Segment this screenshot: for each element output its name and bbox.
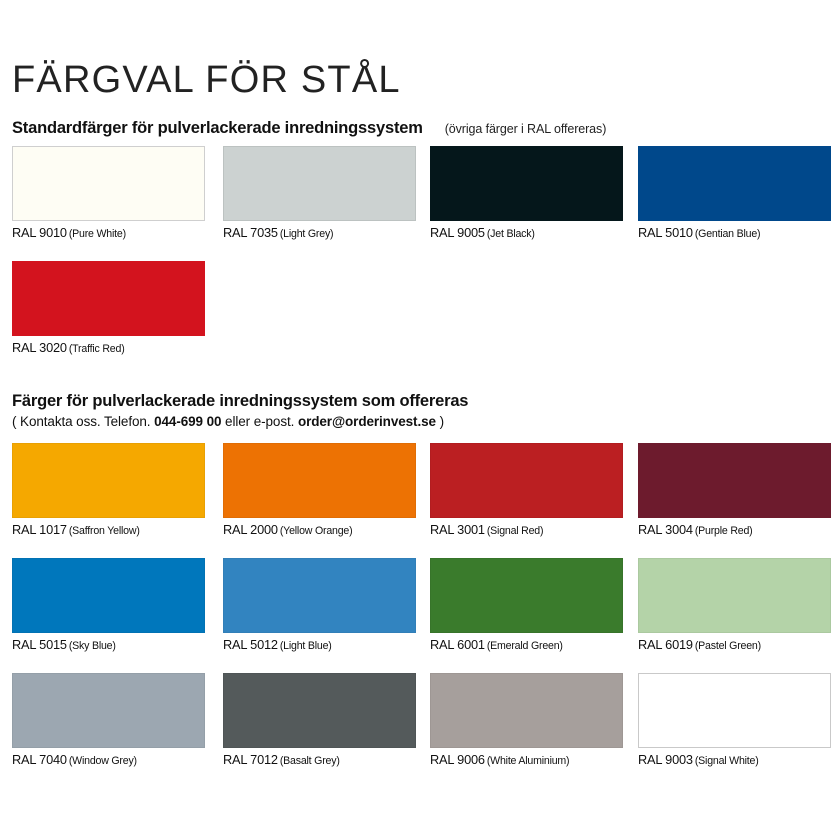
ral-code: RAL 3020 xyxy=(12,340,67,355)
swatch-label: RAL 5010(Gentian Blue) xyxy=(638,226,831,241)
swatch-cell[interactable]: RAL 6019(Pastel Green) xyxy=(638,558,831,653)
color-chip[interactable] xyxy=(223,146,416,221)
ral-name: (Jet Black) xyxy=(487,228,535,240)
color-chip[interactable] xyxy=(638,558,831,633)
ral-code: RAL 1017 xyxy=(12,522,67,537)
color-chip[interactable] xyxy=(638,146,831,221)
swatch-label: RAL 7035(Light Grey) xyxy=(223,226,416,241)
ral-name: (Signal Red) xyxy=(487,525,543,537)
color-chip[interactable] xyxy=(12,261,205,336)
swatch-cell[interactable]: RAL 9010(Pure White) xyxy=(12,146,205,241)
color-chip[interactable] xyxy=(430,673,623,748)
color-chip[interactable] xyxy=(430,146,623,221)
swatch-label: RAL 6001(Emerald Green) xyxy=(430,638,623,653)
ral-name: (Light Grey) xyxy=(280,228,334,240)
color-chip[interactable] xyxy=(12,146,205,221)
color-chip[interactable] xyxy=(12,558,205,633)
swatch-label: RAL 2000(Yellow Orange) xyxy=(223,523,416,538)
ral-name: (Pastel Green) xyxy=(695,640,761,652)
swatch-label: RAL 9010(Pure White) xyxy=(12,226,205,241)
ral-code: RAL 5015 xyxy=(12,637,67,652)
swatch-cell[interactable]: RAL 6001(Emerald Green) xyxy=(430,558,623,653)
ral-code: RAL 3001 xyxy=(430,522,485,537)
section-offered-contact-line: ( Kontakta oss. Telefon. 044-699 00 elle… xyxy=(12,414,444,429)
swatch-cell[interactable]: RAL 3001(Signal Red) xyxy=(430,443,623,538)
ral-code: RAL 9003 xyxy=(638,752,693,767)
swatch-label: RAL 5015(Sky Blue) xyxy=(12,638,205,653)
contact-separator: eller e-post. xyxy=(221,414,298,429)
ral-code: RAL 5010 xyxy=(638,225,693,240)
ral-code: RAL 5012 xyxy=(223,637,278,652)
swatch-cell[interactable]: RAL 9006(White Aluminium) xyxy=(430,673,623,768)
swatch-label: RAL 3004(Purple Red) xyxy=(638,523,831,538)
ral-code: RAL 2000 xyxy=(223,522,278,537)
ral-name: (Basalt Grey) xyxy=(280,755,340,767)
swatch-label: RAL 9006(White Aluminium) xyxy=(430,753,623,768)
swatch-row: RAL 3020(Traffic Red) xyxy=(0,261,840,361)
ral-name: (Saffron Yellow) xyxy=(69,525,140,537)
swatch-label: RAL 7040(Window Grey) xyxy=(12,753,205,768)
ral-name: (Light Blue) xyxy=(280,640,332,652)
swatch-cell[interactable]: RAL 2000(Yellow Orange) xyxy=(223,443,416,538)
ral-code: RAL 9010 xyxy=(12,225,67,240)
color-chip[interactable] xyxy=(430,558,623,633)
ral-name: (Yellow Orange) xyxy=(280,525,353,537)
ral-name: (Traffic Red) xyxy=(69,343,125,355)
swatch-label: RAL 3020(Traffic Red) xyxy=(12,341,205,356)
section-standard-heading-text: Standardfärger för pulverlackerade inred… xyxy=(12,119,423,137)
swatch-row: RAL 9010(Pure White) RAL 7035(Light Grey… xyxy=(0,146,840,246)
swatch-cell[interactable]: RAL 9005(Jet Black) xyxy=(430,146,623,241)
color-chip[interactable] xyxy=(223,558,416,633)
ral-name: (Pure White) xyxy=(69,228,126,240)
ral-code: RAL 6019 xyxy=(638,637,693,652)
swatch-label: RAL 6019(Pastel Green) xyxy=(638,638,831,653)
contact-email[interactable]: order@orderinvest.se xyxy=(298,414,436,429)
ral-code: RAL 9006 xyxy=(430,752,485,767)
swatch-cell[interactable]: RAL 3020(Traffic Red) xyxy=(12,261,205,356)
color-chip[interactable] xyxy=(223,673,416,748)
swatch-cell[interactable]: RAL 5012(Light Blue) xyxy=(223,558,416,653)
ral-name: (Window Grey) xyxy=(69,755,137,767)
swatch-cell[interactable]: RAL 7035(Light Grey) xyxy=(223,146,416,241)
swatch-label: RAL 1017(Saffron Yellow) xyxy=(12,523,205,538)
section-offered-heading: Färger för pulverlackerade inredningssys… xyxy=(12,392,468,411)
swatch-cell[interactable]: RAL 7040(Window Grey) xyxy=(12,673,205,768)
color-chip[interactable] xyxy=(638,673,831,748)
color-chip[interactable] xyxy=(223,443,416,518)
ral-name: (Signal White) xyxy=(695,755,759,767)
ral-code: RAL 9005 xyxy=(430,225,485,240)
swatch-row: RAL 5015(Sky Blue) RAL 5012(Light Blue) … xyxy=(0,558,840,658)
ral-name: (Emerald Green) xyxy=(487,640,563,652)
swatch-label: RAL 7012(Basalt Grey) xyxy=(223,753,416,768)
ral-code: RAL 6001 xyxy=(430,637,485,652)
ral-name: (Sky Blue) xyxy=(69,640,116,652)
color-chip[interactable] xyxy=(638,443,831,518)
ral-code: RAL 7035 xyxy=(223,225,278,240)
color-chip[interactable] xyxy=(430,443,623,518)
section-standard-heading-note: (övriga färger i RAL offereras) xyxy=(445,122,607,136)
swatch-cell[interactable]: RAL 5015(Sky Blue) xyxy=(12,558,205,653)
ral-code: RAL 7012 xyxy=(223,752,278,767)
ral-code: RAL 3004 xyxy=(638,522,693,537)
swatch-cell[interactable]: RAL 5010(Gentian Blue) xyxy=(638,146,831,241)
color-chart-page: FÄRGVAL FÖR STÅL Standardfärger för pulv… xyxy=(0,0,840,840)
contact-phone: 044-699 00 xyxy=(154,414,221,429)
color-chip[interactable] xyxy=(12,673,205,748)
swatch-label: RAL 9005(Jet Black) xyxy=(430,226,623,241)
swatch-row: RAL 7040(Window Grey) RAL 7012(Basalt Gr… xyxy=(0,673,840,773)
swatch-label: RAL 3001(Signal Red) xyxy=(430,523,623,538)
color-chip[interactable] xyxy=(12,443,205,518)
contact-suffix: ) xyxy=(436,414,444,429)
page-title: FÄRGVAL FÖR STÅL xyxy=(12,61,401,99)
section-standard-heading: Standardfärger för pulverlackerade inred… xyxy=(12,119,606,138)
ral-name: (Purple Red) xyxy=(695,525,753,537)
swatch-cell[interactable]: RAL 1017(Saffron Yellow) xyxy=(12,443,205,538)
section-offered-heading-text: Färger för pulverlackerade inredningssys… xyxy=(12,392,468,410)
swatch-label: RAL 9003(Signal White) xyxy=(638,753,831,768)
swatch-cell[interactable]: RAL 7012(Basalt Grey) xyxy=(223,673,416,768)
swatch-cell[interactable]: RAL 3004(Purple Red) xyxy=(638,443,831,538)
contact-prefix: ( Kontakta oss. Telefon. xyxy=(12,414,154,429)
swatch-label: RAL 5012(Light Blue) xyxy=(223,638,416,653)
swatch-row: RAL 1017(Saffron Yellow) RAL 2000(Yellow… xyxy=(0,443,840,543)
ral-name: (Gentian Blue) xyxy=(695,228,761,240)
ral-name: (White Aluminium) xyxy=(487,755,570,767)
ral-code: RAL 7040 xyxy=(12,752,67,767)
swatch-cell[interactable]: RAL 9003(Signal White) xyxy=(638,673,831,768)
